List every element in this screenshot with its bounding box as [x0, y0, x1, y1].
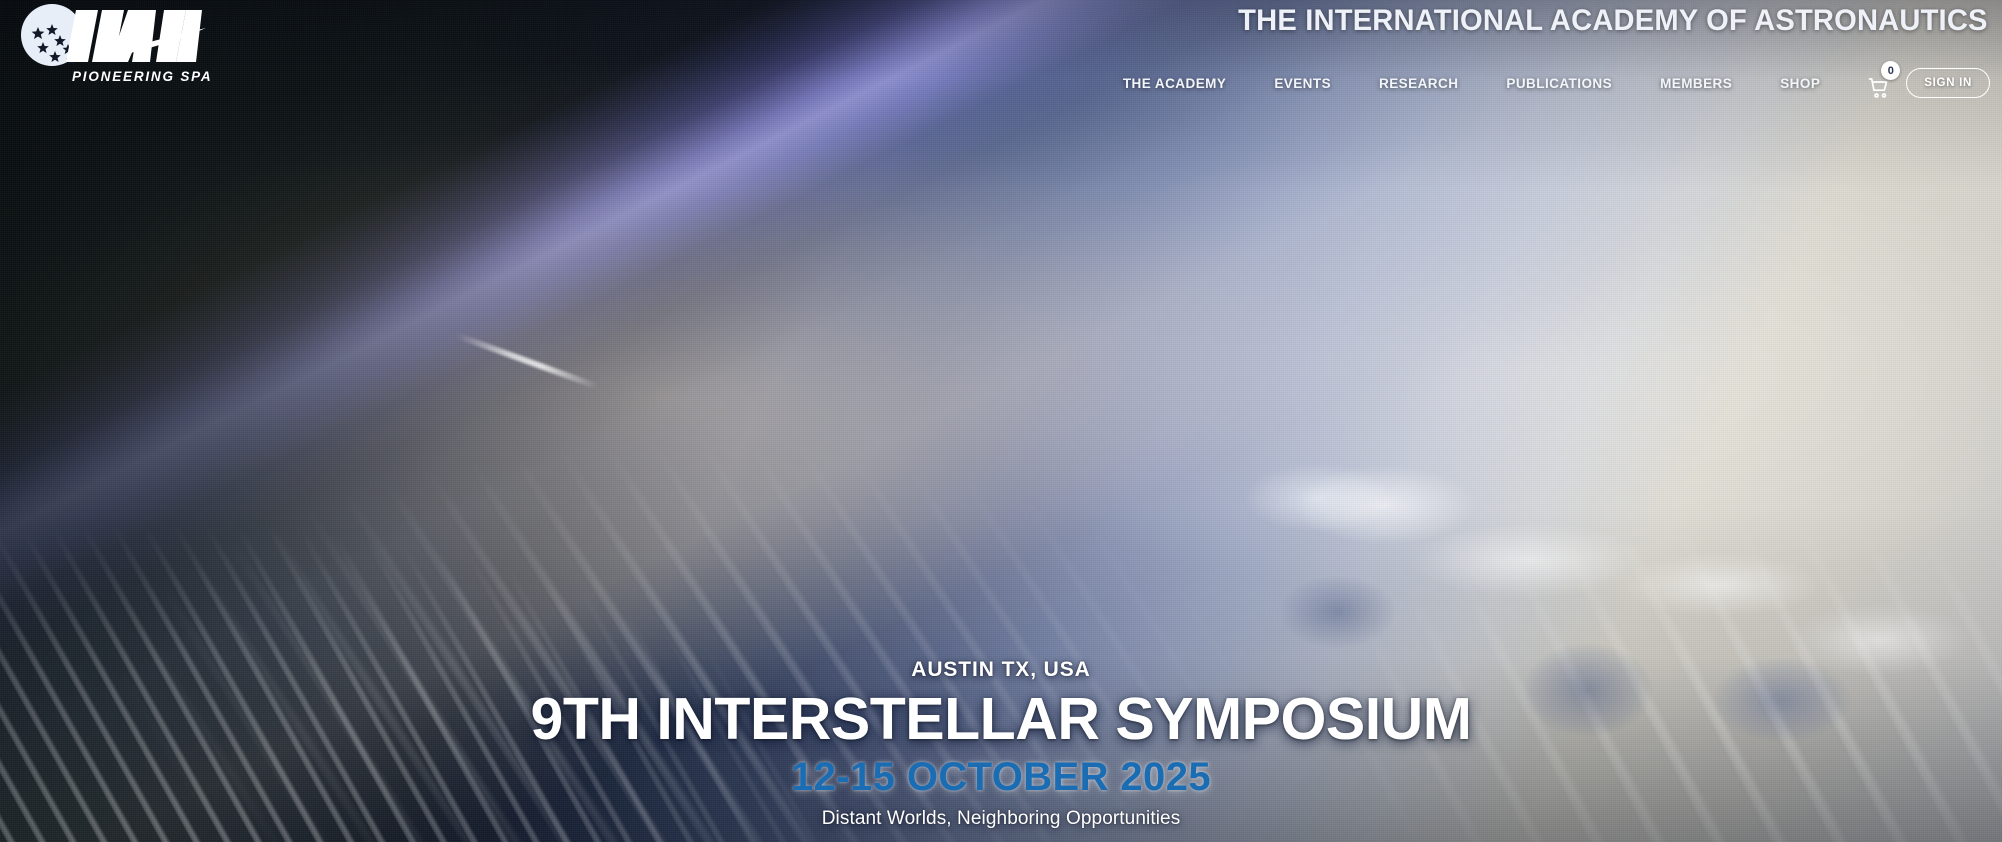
- nav-item-the-academy[interactable]: THE ACADEMY: [1099, 70, 1250, 97]
- sign-in-button[interactable]: SIGN IN: [1906, 68, 1990, 98]
- nav-item-publications[interactable]: PUBLICATIONS: [1482, 70, 1636, 97]
- iaa-logo[interactable]: PIONEERING SPACE: [10, 2, 210, 88]
- cart-button[interactable]: 0: [1860, 66, 1898, 100]
- main-navigation: THE ACADEMY EVENTS RESEARCH PUBLICATIONS…: [1099, 66, 1990, 100]
- cart-count-badge: 0: [1881, 61, 1900, 80]
- academy-title: THE INTERNATIONAL ACADEMY OF ASTRONAUTIC…: [1239, 4, 1988, 38]
- nav-item-members[interactable]: MEMBERS: [1636, 70, 1756, 97]
- iaa-logo-icon: PIONEERING SPACE: [10, 2, 210, 88]
- cumulus-cloud-clusters: [0, 0, 2002, 842]
- nav-item-research[interactable]: RESEARCH: [1355, 70, 1482, 97]
- nav-item-events[interactable]: EVENTS: [1250, 70, 1355, 97]
- page-root: PIONEERING SPACE THE INTERNATIONAL ACADE…: [0, 0, 2002, 842]
- site-header: PIONEERING SPACE THE INTERNATIONAL ACADE…: [0, 0, 2002, 110]
- logo-tagline-text: PIONEERING SPACE: [72, 69, 210, 84]
- nav-item-shop[interactable]: SHOP: [1756, 70, 1844, 97]
